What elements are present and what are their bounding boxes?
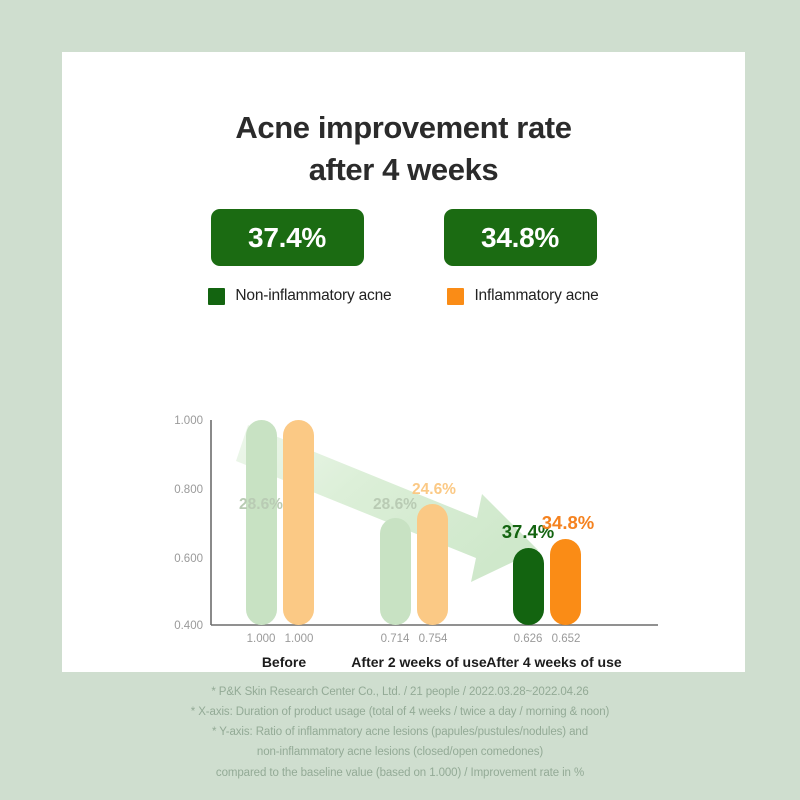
- category-label-week2: After 2 weeks of use: [351, 654, 487, 670]
- legend-item-inflammatory: Inflammatory acne: [447, 287, 598, 305]
- legend-label-inflammatory: Inflammatory acne: [474, 287, 598, 305]
- chart-category-labels: Before After 2 weeks of use After 4 week…: [62, 342, 745, 672]
- title-line-2: after 4 weeks: [62, 149, 745, 191]
- badge-non-inflammatory: 37.4%: [211, 209, 364, 266]
- legend-swatch-orange-icon: [447, 288, 464, 305]
- footnote-line-5: compared to the baseline value (based on…: [0, 763, 800, 783]
- page-title: Acne improvement rate after 4 weeks: [62, 107, 745, 191]
- content-card: Acne improvement rate after 4 weeks 37.4…: [62, 52, 745, 672]
- footnote-line-2: * X-axis: Duration of product usage (tot…: [0, 702, 800, 722]
- legend-swatch-green-icon: [208, 288, 225, 305]
- footnote-line-3: * Y-axis: Ratio of inflammatory acne les…: [0, 722, 800, 742]
- chart-legend: Non-inflammatory acne Inflammatory acne: [62, 287, 745, 305]
- summary-badges: 37.4% 34.8%: [62, 209, 745, 266]
- footnote-line-4: non-inflammatory acne lesions (closed/op…: [0, 742, 800, 762]
- category-label-week4: After 4 weeks of use: [486, 654, 622, 670]
- footnotes: * P&K Skin Research Center Co., Ltd. / 2…: [0, 682, 800, 783]
- footnote-line-1: * P&K Skin Research Center Co., Ltd. / 2…: [0, 682, 800, 702]
- legend-label-non-inflammatory: Non-inflammatory acne: [235, 287, 391, 305]
- page-root: Acne improvement rate after 4 weeks 37.4…: [0, 0, 800, 800]
- badge-inflammatory: 34.8%: [444, 209, 597, 266]
- legend-item-non-inflammatory: Non-inflammatory acne: [208, 287, 391, 305]
- title-line-1: Acne improvement rate: [62, 107, 745, 149]
- category-label-before: Before: [262, 654, 307, 670]
- bar-chart: 1.000 0.800 0.600 0.400: [62, 342, 745, 642]
